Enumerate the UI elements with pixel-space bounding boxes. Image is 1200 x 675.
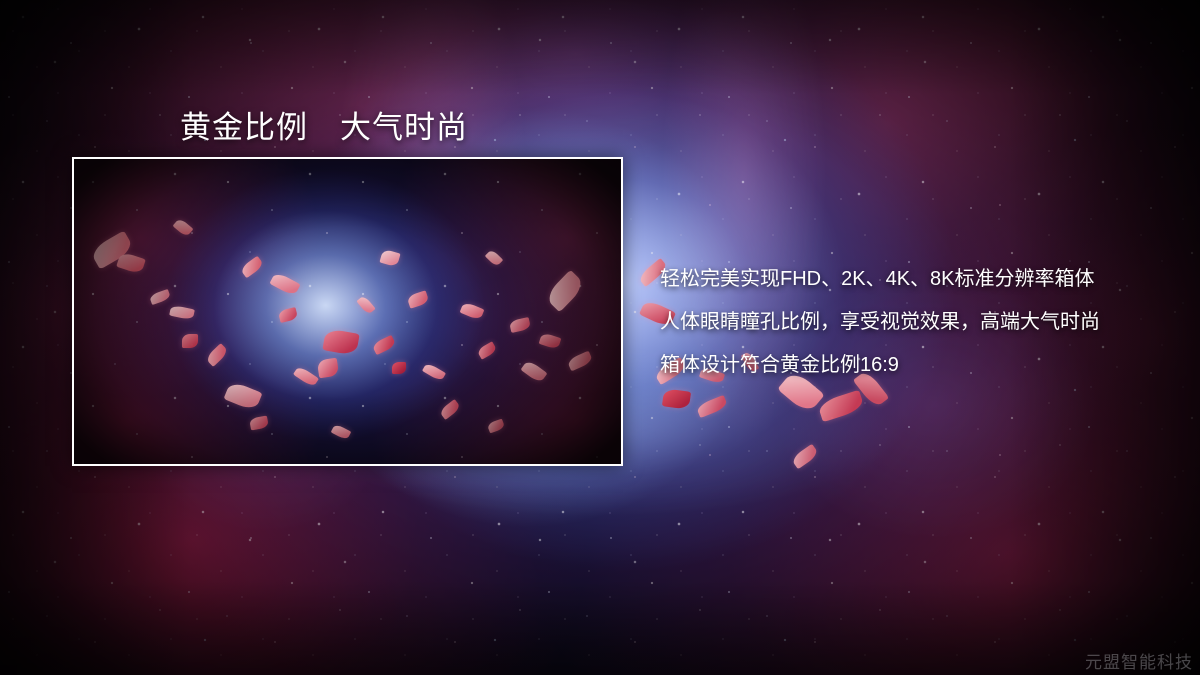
slide-title: 黄金比例 大气时尚	[180, 102, 468, 147]
body-line-3: 箱体设计符合黄金比例16:9	[660, 344, 1100, 387]
panel-image	[74, 159, 621, 464]
watermark: 元盟智能科技	[1085, 648, 1193, 673]
presentation-slide: 黄金比例 大气时尚 轻松完美实现FHD、2K、4K、8K标准分辨率箱体 人体眼睛…	[0, 0, 1200, 675]
panel-vignette	[74, 159, 621, 464]
body-line-2: 人体眼睛瞳孔比例，享受视觉效果，高端大气时尚	[660, 301, 1100, 344]
body-line-1: 轻松完美实现FHD、2K、4K、8K标准分辨率箱体	[660, 258, 1100, 301]
slide-body-text: 轻松完美实现FHD、2K、4K、8K标准分辨率箱体 人体眼睛瞳孔比例，享受视觉效…	[660, 258, 1100, 387]
framed-image-panel	[72, 157, 623, 466]
